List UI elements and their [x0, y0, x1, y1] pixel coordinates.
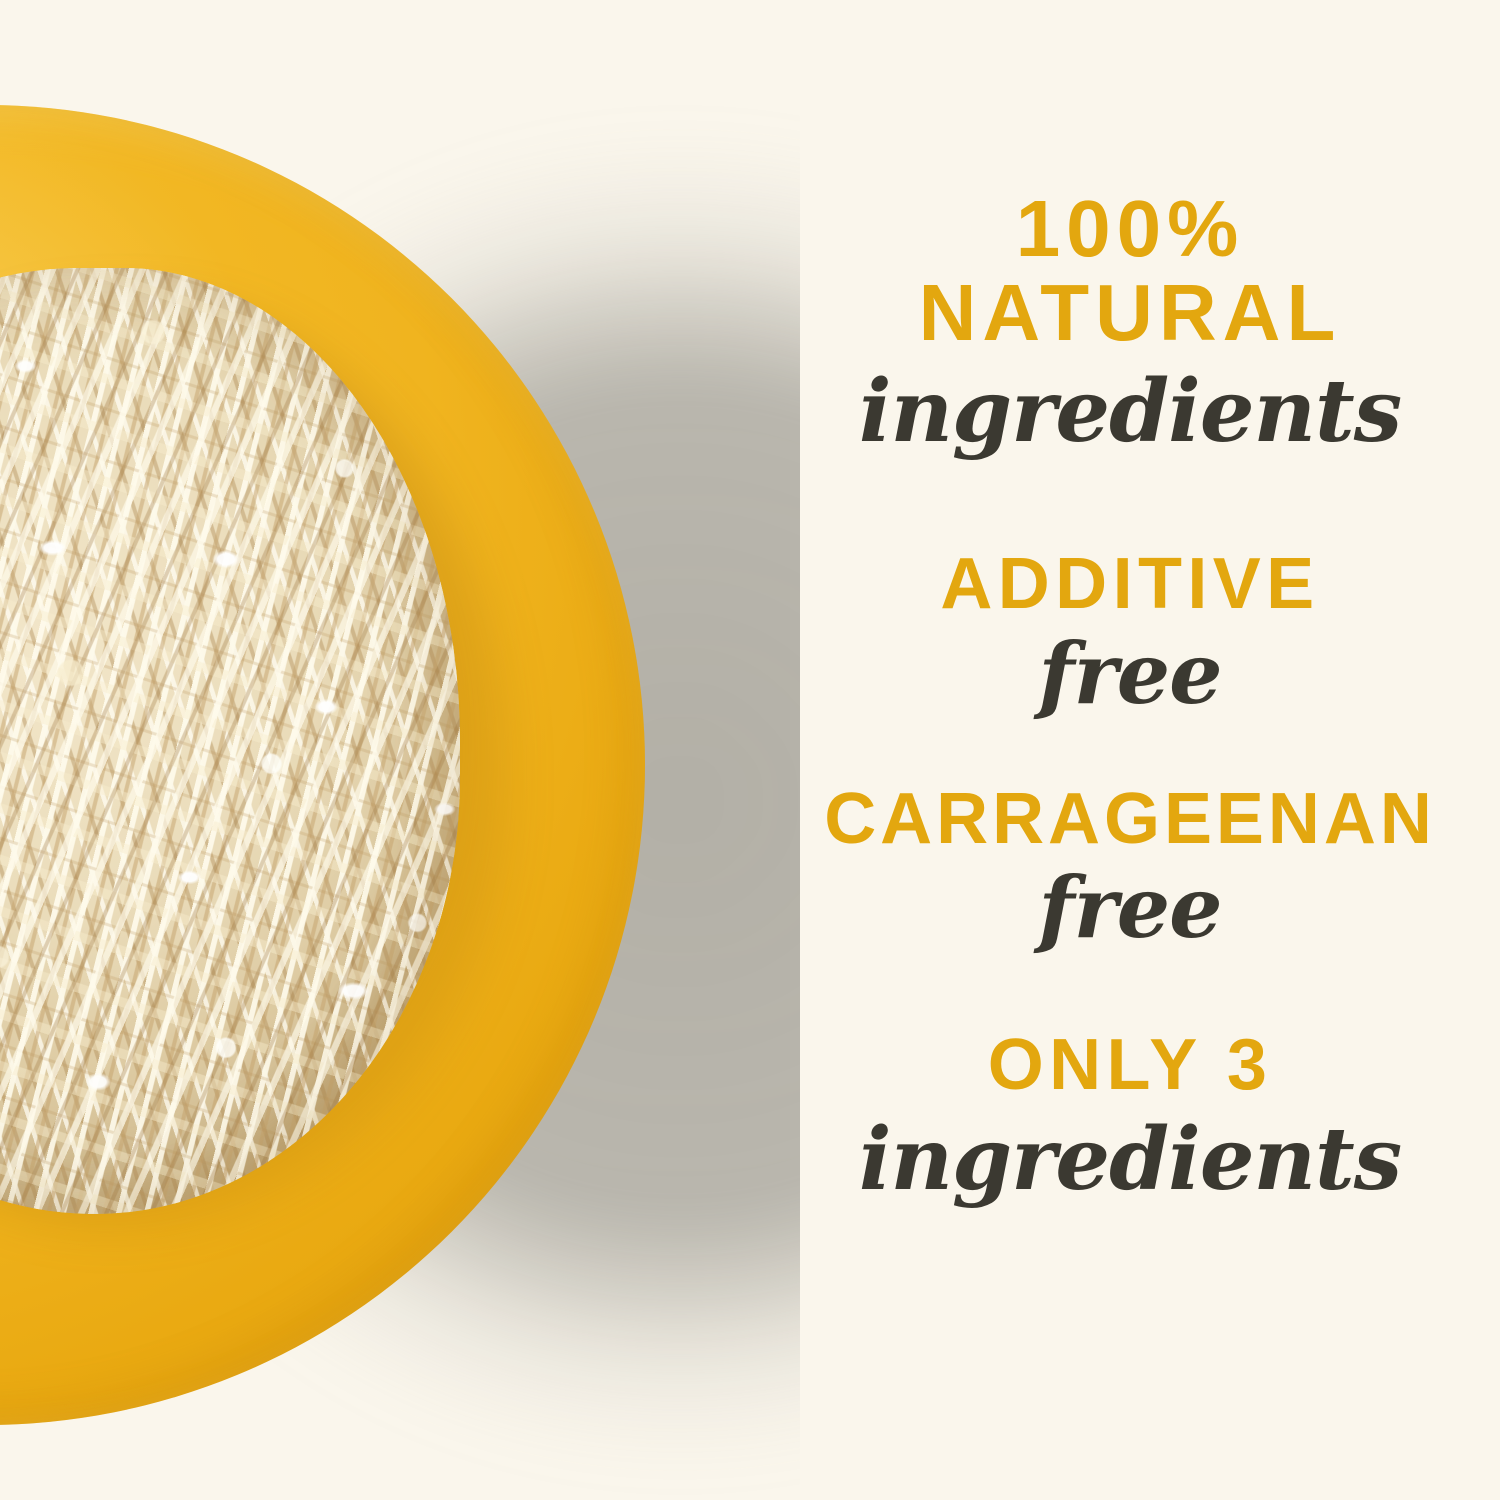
claim-additive: ADDITIVE free [760, 548, 1500, 722]
product-claims-banner: 100% NATURAL ingredients ADDITIVE free C… [0, 0, 1500, 1500]
claim-carrageenan-script: free [760, 858, 1500, 957]
claim-natural-headline-line1: 100% [1016, 184, 1245, 273]
claim-additive-headline: ADDITIVE [760, 548, 1500, 621]
shredded-chicken-mound [0, 268, 460, 1214]
claims-list: 100% NATURAL ingredients ADDITIVE free C… [760, 0, 1500, 1500]
claim-additive-script: free [760, 624, 1500, 723]
claim-natural-headline: 100% NATURAL [760, 188, 1500, 353]
claim-carrageenan-headline: CARRAGEENAN [760, 783, 1500, 856]
claim-only3-headline: ONLY 3 [760, 1029, 1500, 1102]
claim-natural-headline-line2: NATURAL [760, 272, 1500, 354]
claim-only3: ONLY 3 ingredients [760, 1029, 1500, 1209]
claim-only3-script: ingredients [760, 1109, 1500, 1210]
claim-carrageenan: CARRAGEENAN free [760, 783, 1500, 957]
product-photo [0, 0, 800, 1500]
claim-natural: 100% NATURAL ingredients [760, 188, 1500, 462]
claim-natural-script: ingredients [760, 361, 1500, 462]
